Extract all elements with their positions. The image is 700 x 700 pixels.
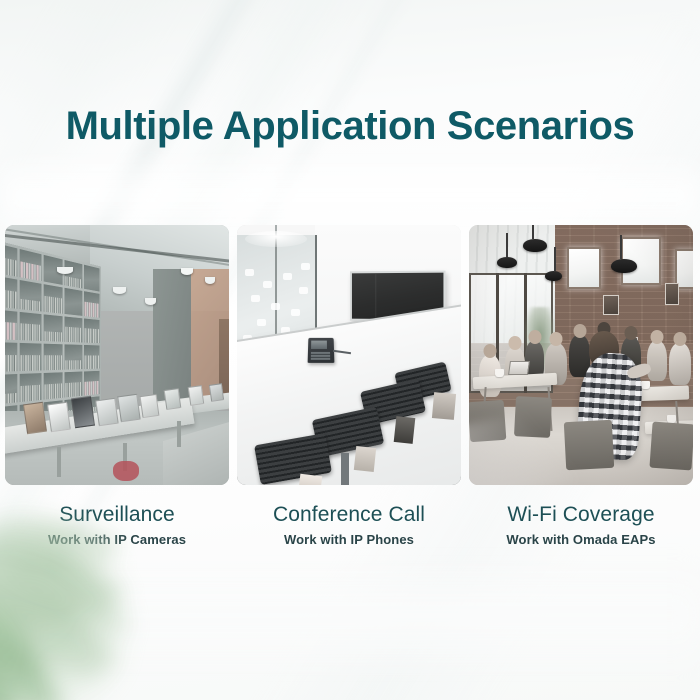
caption-title: Surveillance [5, 503, 229, 527]
ip-conference-phone [308, 338, 335, 363]
scenario-card-surveillance[interactable]: Surveillance Work with IP Cameras [5, 225, 229, 547]
leaf [0, 616, 25, 700]
foliage-core [0, 540, 130, 700]
shelf-cube [44, 372, 63, 400]
shelf-cube [5, 276, 18, 309]
shelf-cube [44, 314, 63, 342]
caption-title: Conference Call [237, 503, 461, 527]
shelf-cube [84, 265, 100, 292]
caption-conference-call: Conference Call Work with IP Phones [237, 485, 461, 547]
shelf-cube [65, 372, 82, 398]
shelf-cube [20, 249, 41, 281]
chair-leg [354, 446, 376, 472]
scenario-card-wifi-coverage[interactable]: Wi-Fi Coverage Work with Omada EAPs [469, 225, 693, 547]
chair-leg [298, 474, 323, 485]
shelf-cube [84, 291, 100, 317]
table-leg [57, 447, 61, 477]
table-leg [177, 421, 181, 447]
displayed-book [23, 402, 47, 434]
shelf-cube [65, 344, 82, 370]
shelf-cube [5, 342, 18, 372]
shelf-cube [20, 280, 41, 311]
shelf-cube [65, 316, 82, 342]
photo-vignette [469, 225, 693, 485]
track-lamp [205, 277, 215, 284]
ceiling-light-reflection [245, 231, 307, 247]
displayed-book [140, 394, 160, 418]
caption-subtitle: Work with IP Cameras [5, 532, 229, 547]
track-lamp [181, 268, 193, 275]
shelf-cube [65, 288, 82, 315]
shelf-cube [20, 373, 41, 402]
caption-wifi-coverage: Wi-Fi Coverage Work with Omada EAPs [469, 485, 693, 547]
scenario-card-conference-call[interactable]: Conference Call Work with IP Phones [237, 225, 461, 547]
table-pedestal [341, 453, 349, 485]
displayed-book [164, 388, 182, 410]
displayed-book [117, 394, 140, 423]
shelf-cube [44, 284, 63, 313]
shelf-cube [5, 309, 18, 340]
scenario-card-row: Surveillance Work with IP Cameras [5, 225, 695, 547]
library-bookstore-photo [5, 225, 229, 485]
displayed-book [47, 402, 71, 433]
chair-leg [394, 416, 416, 444]
page-title: Multiple Application Scenarios [0, 104, 700, 148]
shelf-cube [84, 345, 100, 369]
caption-title: Wi-Fi Coverage [469, 503, 693, 527]
shelf-cube [65, 260, 82, 289]
leaf [0, 578, 65, 700]
shelf-cube [5, 374, 18, 405]
track-lamp [57, 267, 73, 274]
shopping-bag [113, 461, 139, 481]
shelf-cube [20, 312, 41, 341]
displayed-book [188, 385, 205, 406]
displayed-book [209, 383, 224, 402]
chair-leg [432, 392, 456, 420]
shelf-cube [84, 318, 100, 343]
track-lamp [113, 287, 126, 294]
conference-room-photo [237, 225, 461, 485]
shelf-cube [5, 243, 18, 277]
cafe-coworking-photo [469, 225, 693, 485]
leaf [0, 539, 117, 700]
caption-subtitle: Work with IP Phones [237, 532, 461, 547]
shelf-cube [44, 344, 63, 371]
scenarios-page: Multiple Application Scenarios [0, 0, 700, 700]
caption-surveillance: Surveillance Work with IP Cameras [5, 485, 229, 547]
displayed-book [95, 398, 118, 427]
background-haze-bottom [0, 560, 700, 680]
leaf [19, 556, 132, 653]
caption-subtitle: Work with Omada EAPs [469, 532, 693, 547]
shelf-cube [20, 343, 41, 371]
track-lamp [145, 298, 156, 305]
shelf-cube [84, 371, 100, 396]
displayed-book [71, 396, 95, 428]
